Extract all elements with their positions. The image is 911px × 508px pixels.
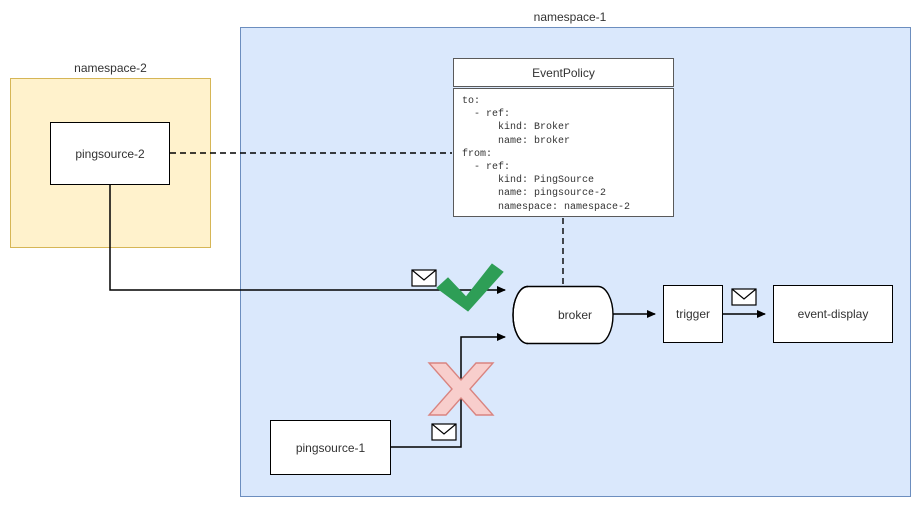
node-pingsource-2-label: pingsource-2 [75, 147, 144, 161]
broker-cylinder [513, 287, 613, 344]
node-event-display[interactable]: event-display [773, 285, 893, 343]
namespace-1-label: namespace-1 [470, 10, 670, 24]
node-trigger[interactable]: trigger [663, 285, 723, 343]
event-policy-title: EventPolicy [453, 58, 674, 87]
node-pingsource-1-label: pingsource-1 [296, 441, 365, 455]
event-policy-yaml: to: - ref: kind: Broker name: broker fro… [453, 88, 674, 217]
node-trigger-label: trigger [676, 307, 710, 321]
namespace-2-label: namespace-2 [10, 61, 211, 75]
node-pingsource-2[interactable]: pingsource-2 [50, 122, 170, 185]
envelope-icon [412, 270, 436, 286]
envelope-icon [732, 289, 756, 305]
envelope-icon [432, 424, 456, 440]
node-pingsource-1[interactable]: pingsource-1 [270, 420, 391, 475]
node-event-display-label: event-display [798, 307, 869, 321]
